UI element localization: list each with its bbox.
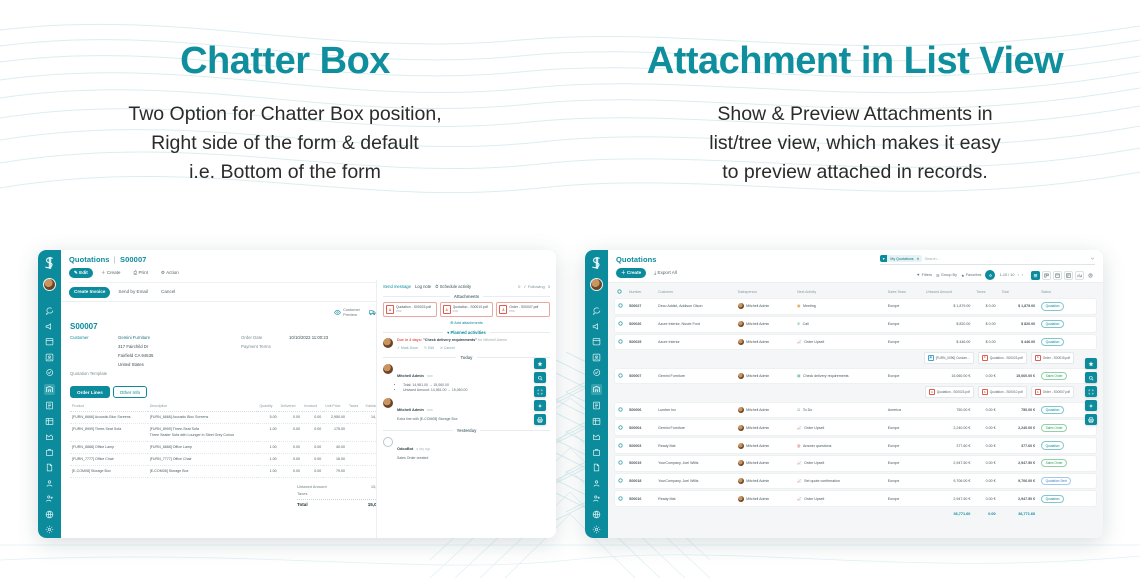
cell-quantity: 1.00 bbox=[257, 453, 278, 465]
subtitle-line: to preview attached in records. bbox=[570, 158, 1140, 187]
calendar-icon bbox=[1055, 273, 1060, 278]
message-time: now bbox=[427, 374, 433, 378]
table-row[interactable]: S00016 Ready Mat Mitchell Admin 📈Order U… bbox=[614, 490, 1097, 507]
cell-taxes bbox=[347, 441, 363, 453]
cell-taxes bbox=[347, 424, 363, 441]
table-row[interactable]: S00007 Gemini Furniture Mitchell Admin ▤… bbox=[614, 368, 1097, 385]
settings-round-button[interactable] bbox=[985, 270, 995, 280]
row-checkbox[interactable] bbox=[614, 298, 626, 315]
settings-gear-icon[interactable] bbox=[592, 525, 601, 534]
cancel-activity-link[interactable]: ✕ Cancel bbox=[440, 346, 455, 350]
cell-number: S00026 bbox=[626, 316, 655, 333]
following-label[interactable]: ✓ Following bbox=[523, 284, 544, 289]
cell-untaxed: $ 446.00 bbox=[923, 334, 973, 351]
table-row[interactable]: [FURN_8999] Three-Seat Sofa [FURN_8999] … bbox=[70, 424, 392, 441]
table-row[interactable]: [E-COM08] Storage Box [E-COM08] Storage … bbox=[70, 466, 392, 478]
order-lines-table: Product Description Quantity Delivered I… bbox=[70, 402, 392, 478]
col-number[interactable]: Number bbox=[626, 286, 655, 297]
form-fields-right: Order Date 10/10/2022 11:00:23 Payment T… bbox=[241, 335, 392, 380]
cell-taxes: 0.00 € bbox=[973, 455, 998, 472]
table-row[interactable]: S00019 YourCompany, Joel Willis Mitchell… bbox=[614, 455, 1097, 472]
col-customer[interactable]: Customer bbox=[655, 286, 735, 297]
calendar-icon: ▤ bbox=[797, 374, 800, 378]
pivot-view-button[interactable] bbox=[1064, 271, 1073, 280]
col-taxes[interactable]: Taxes bbox=[347, 402, 363, 412]
field-value: Fairfield CA 94535 bbox=[118, 353, 153, 359]
checkbox-icon bbox=[618, 407, 623, 412]
checkbox-icon bbox=[618, 321, 623, 326]
kanban-view-button[interactable] bbox=[1042, 271, 1051, 280]
documents-icon[interactable] bbox=[45, 463, 54, 472]
recruitment-icon[interactable] bbox=[592, 494, 601, 503]
status-badge: Quotation bbox=[1041, 441, 1064, 449]
subtitle-line: Right side of the form & default bbox=[0, 129, 570, 158]
pdf-icon: A bbox=[1035, 355, 1041, 362]
cell-untaxed: 2,947.50 € bbox=[923, 490, 973, 507]
brand-logo-icon[interactable] bbox=[42, 255, 58, 271]
headline-section: Chatter Box Two Option for Chatter Box p… bbox=[0, 0, 1140, 215]
cell-unit-price: 79.00 bbox=[323, 466, 347, 478]
floating-action-buttons-left bbox=[534, 358, 546, 425]
action-button[interactable]: ⚙ Action bbox=[156, 268, 184, 279]
discuss-icon[interactable] bbox=[45, 306, 54, 315]
recruitment-icon[interactable] bbox=[45, 494, 54, 503]
status-badge: Sales Order bbox=[1041, 459, 1067, 467]
row-checkbox[interactable] bbox=[614, 490, 626, 507]
cell-taxes bbox=[347, 466, 363, 478]
search-icon-button[interactable] bbox=[1085, 372, 1097, 383]
pager-previous[interactable]: ‹ bbox=[1017, 273, 1018, 277]
attachment-chip-list: ▣[FURN_0096] Custom... AQuotation - S000… bbox=[617, 352, 1094, 363]
invoicing-icon[interactable] bbox=[45, 401, 54, 410]
cell-product: [FURN_8888] Office Lamp bbox=[70, 441, 148, 453]
col-sales-team[interactable]: Sales Team bbox=[885, 286, 923, 297]
panel-title-attachment: Attachment in List View bbox=[570, 42, 1140, 80]
status-badge: Quotation bbox=[1041, 320, 1064, 328]
field-label: Order Date bbox=[241, 335, 289, 341]
cell-salesperson: Mitchell Admin bbox=[735, 419, 794, 436]
cell-salesperson: Mitchell Admin bbox=[735, 316, 794, 333]
expand-icon-button[interactable] bbox=[534, 386, 546, 397]
activity-summary: "Check delivery requirements" bbox=[423, 338, 477, 342]
record-title: S00007 bbox=[70, 322, 392, 331]
activity-item: Due in 4 days: "Check delivery requireme… bbox=[383, 338, 550, 350]
cell-description: [FURN_8999] Three-Seat Sofa Three Seater… bbox=[148, 424, 258, 441]
cell-quantity: 1.00 bbox=[257, 466, 278, 478]
total-label: Total bbox=[297, 502, 308, 507]
cell-customer: YourCompany, Joel Willis bbox=[655, 473, 735, 490]
cell-next-activity: ✆Call bbox=[794, 316, 885, 333]
create-invoice-button[interactable]: Create Invoice bbox=[69, 287, 110, 298]
col-next-activity[interactable]: Next Activity bbox=[794, 286, 885, 297]
pdf-icon: A bbox=[499, 305, 507, 314]
pdf-icon: A bbox=[386, 305, 394, 314]
add-attachments-button[interactable]: ⊕ Add attachments bbox=[383, 320, 550, 325]
col-salesperson[interactable]: Salesperson bbox=[735, 286, 794, 297]
favorites-dropdown[interactable]: ★ Favorites bbox=[961, 273, 982, 278]
cell-salesperson: Mitchell Admin bbox=[735, 368, 794, 385]
calendar-view-button[interactable] bbox=[1053, 271, 1062, 280]
upsell-icon: 📈 bbox=[797, 497, 801, 501]
cell-delivered: 0.00 bbox=[279, 412, 302, 424]
table-row[interactable]: S00018 YourCompany, Joel Willis Mitchell… bbox=[614, 473, 1097, 490]
message-body: Total: 14,981.00 → 15,060.00 Untaxed Amo… bbox=[397, 383, 467, 394]
eye-icon bbox=[334, 309, 341, 316]
website-icon[interactable] bbox=[45, 510, 54, 519]
field-address-country: United States bbox=[70, 362, 221, 368]
employees-icon[interactable] bbox=[45, 479, 54, 488]
cell-next-activity: 📈Order Upsell bbox=[794, 419, 885, 436]
search-icon-button[interactable] bbox=[534, 372, 546, 383]
calendar-icon[interactable] bbox=[45, 337, 54, 346]
employees-icon[interactable] bbox=[592, 479, 601, 488]
crm-icon[interactable] bbox=[45, 368, 54, 377]
day-divider-yesterday: Yesterday bbox=[383, 428, 550, 433]
cell-sales-team: Europe bbox=[885, 437, 923, 454]
breadcrumb[interactable]: Quotations | S00007 bbox=[69, 255, 548, 264]
cell-total: $ 1,879.00 bbox=[999, 298, 1038, 315]
inventory-icon[interactable] bbox=[592, 417, 601, 426]
col-quantity[interactable]: Quantity bbox=[257, 402, 278, 412]
upsell-icon: 📈 bbox=[797, 479, 801, 483]
chevron-down-icon[interactable] bbox=[1090, 256, 1095, 261]
schedule-activity-button[interactable]: ⏱ Schedule activity bbox=[435, 284, 471, 289]
pager-next[interactable]: › bbox=[1022, 273, 1023, 277]
app-sidebar[interactable] bbox=[585, 250, 608, 538]
field-payment-terms[interactable]: Payment Terms bbox=[241, 344, 392, 350]
upsell-icon: 📈 bbox=[797, 340, 801, 344]
expand-icon-button[interactable] bbox=[1085, 386, 1097, 397]
attachment-name: Order - S00007.pdf bbox=[1043, 390, 1070, 394]
attachment-card[interactable]: A Quotation - S00010.pdf PDF bbox=[440, 302, 494, 317]
cell-sales-team: Europe bbox=[885, 419, 923, 436]
message-time: a day ago bbox=[416, 447, 430, 451]
attachment-name: [FURN_0096] Custom... bbox=[936, 356, 970, 360]
row-checkbox[interactable] bbox=[614, 316, 626, 333]
attachment-chip[interactable]: AQuotation - S00023.pdf bbox=[925, 386, 974, 397]
contacts-icon[interactable] bbox=[45, 353, 54, 362]
field-quotation-template[interactable]: Quotation Template bbox=[70, 371, 221, 377]
user-avatar[interactable] bbox=[43, 278, 56, 291]
gear-icon bbox=[988, 273, 993, 278]
breadcrumb-app[interactable]: Quotations bbox=[616, 255, 657, 264]
cell-total: 750.00 € bbox=[999, 402, 1038, 419]
cell-customer: Azure Interior bbox=[655, 334, 735, 351]
attachment-chip[interactable]: AOrder - S00015.pdf bbox=[1031, 352, 1074, 363]
question-icon: ▥ bbox=[797, 444, 800, 448]
invoicing-icon[interactable] bbox=[592, 401, 601, 410]
edit-activity-link[interactable]: ✎ Edit bbox=[424, 346, 434, 350]
cell-total: 2,947.50 € bbox=[999, 455, 1038, 472]
star-icon-button[interactable] bbox=[1085, 358, 1097, 369]
status-badge: Quotation Sent bbox=[1041, 477, 1071, 485]
cell-invoiced: 0.00 bbox=[302, 453, 323, 465]
table-row[interactable]: S00025 Azure Interior Mitchell Admin 📈Or… bbox=[614, 334, 1097, 351]
table-row[interactable]: S00026 Azure Interior, Nicole Ford Mitch… bbox=[614, 316, 1097, 333]
tab-order-lines[interactable]: Order Lines bbox=[70, 386, 110, 398]
crm-icon[interactable] bbox=[592, 368, 601, 377]
inventory-icon[interactable] bbox=[45, 417, 54, 426]
graph-view-button[interactable] bbox=[1075, 271, 1084, 280]
cell-unit-price: 2,950.00 bbox=[323, 412, 347, 424]
attachment-chip[interactable]: AQuotation - S00023.pdf bbox=[978, 352, 1027, 363]
table-row[interactable]: S00004 Gemini Furniture Mitchell Admin 📈… bbox=[614, 419, 1097, 436]
print-icon-button[interactable] bbox=[1085, 414, 1097, 425]
cell-description: [E-COM08] Storage Box bbox=[148, 466, 258, 478]
calendar-icon[interactable] bbox=[592, 337, 601, 346]
col-product[interactable]: Product bbox=[70, 402, 148, 412]
chatter-message: Mitchell Adminnow Extra line with [E-COM… bbox=[383, 398, 550, 423]
message-author: Mitchell Admin bbox=[397, 408, 424, 412]
status-badge: Quotation bbox=[1041, 338, 1064, 346]
cell-untaxed: 377.60 € bbox=[923, 437, 973, 454]
followers-badge[interactable]: 3 bbox=[548, 284, 550, 289]
discuss-icon[interactable] bbox=[592, 306, 601, 315]
print-button[interactable]: ⎙ Print bbox=[129, 268, 153, 279]
day-label: Yesterday bbox=[457, 428, 477, 433]
follower-count: 0 bbox=[518, 284, 520, 289]
col-total[interactable]: Total bbox=[999, 286, 1038, 297]
mark-done-link[interactable]: ✓ Mark Done bbox=[397, 346, 418, 350]
cell-next-activity: 📈Order Upsell bbox=[794, 455, 885, 472]
cell-taxes: 0.00 € bbox=[973, 419, 998, 436]
checkbox-icon bbox=[617, 289, 622, 294]
group-by-dropdown[interactable]: ☰ Group By bbox=[936, 273, 957, 278]
cancel-button[interactable]: Cancel bbox=[156, 287, 180, 298]
col-unit-price[interactable]: Unit Price bbox=[323, 402, 347, 412]
field-order-date[interactable]: Order Date 10/10/2022 11:00:23 bbox=[241, 335, 392, 341]
total-label: Untaxed Amount bbox=[297, 484, 327, 489]
row-checkbox[interactable] bbox=[614, 419, 626, 436]
megaphone-icon[interactable] bbox=[592, 322, 601, 331]
print-icon-button[interactable] bbox=[534, 414, 546, 425]
pager[interactable]: 1-10 / 10 ‹ › bbox=[999, 273, 1023, 277]
table-row[interactable]: [FURN_6666] Acoustic Bloc Screens [FURN_… bbox=[70, 412, 392, 424]
col-untaxed-amount[interactable]: Untaxed Amount bbox=[923, 286, 973, 297]
cell-taxes: 0.00 € bbox=[973, 490, 998, 507]
cell-status: Quotation bbox=[1038, 316, 1097, 333]
contacts-icon[interactable] bbox=[592, 353, 601, 362]
field-value: United States bbox=[118, 362, 144, 368]
tracking-value: Untaxed Amount: 14,981.00 → 15,060.00 bbox=[403, 388, 467, 394]
col-select[interactable] bbox=[614, 286, 626, 297]
app-sidebar[interactable] bbox=[38, 250, 61, 538]
star-icon-button[interactable] bbox=[534, 358, 546, 369]
panel-subtitle-chatter: Two Option for Chatter Box position, Rig… bbox=[0, 100, 570, 187]
total-label: Taxes bbox=[297, 491, 307, 496]
purchase-icon[interactable] bbox=[45, 448, 54, 457]
pivot-icon bbox=[1066, 273, 1071, 278]
cell-unit-price: 40.00 bbox=[323, 441, 347, 453]
todo-icon: ☑ bbox=[797, 408, 800, 412]
attachment-name: Quotation - S00023.pdf bbox=[937, 390, 970, 394]
table-row[interactable]: [FURN_8888] Office Lamp [FURN_8888] Offi… bbox=[70, 441, 392, 453]
cell-customer: YourCompany, Joel Willis bbox=[655, 455, 735, 472]
subtitle-line: Two Option for Chatter Box position, bbox=[0, 100, 570, 129]
export-all-button[interactable]: ⤓ Export All bbox=[649, 268, 682, 279]
meeting-icon: ▦ bbox=[797, 304, 800, 308]
col-delivered[interactable]: Delivered bbox=[279, 402, 302, 412]
sales-icon[interactable] bbox=[44, 384, 55, 395]
status-badge: Quotation bbox=[1041, 406, 1064, 414]
row-checkbox[interactable] bbox=[614, 437, 626, 454]
attachment-chip[interactable]: ▣[FURN_0096] Custom... bbox=[924, 352, 974, 363]
manufacturing-icon[interactable] bbox=[592, 432, 601, 441]
settings-icon-button[interactable] bbox=[534, 400, 546, 411]
log-note-button[interactable]: Log note bbox=[415, 284, 431, 289]
sidebar-app-icons[interactable] bbox=[591, 306, 602, 534]
checkbox-icon bbox=[618, 339, 623, 344]
followers-widget[interactable]: 0 ✓ Following 3 bbox=[518, 284, 550, 289]
cell-next-activity: 📈Order Upsell bbox=[794, 334, 885, 351]
send-by-email-button[interactable]: Send by Email bbox=[113, 287, 153, 298]
message-body: Sales Order created bbox=[397, 456, 430, 462]
cell-total: $ 446.00 bbox=[999, 334, 1038, 351]
message-author: Mitchell Admin bbox=[397, 374, 424, 378]
search-input[interactable]: Search... bbox=[925, 257, 1087, 261]
cell-number: S00018 bbox=[626, 473, 655, 490]
user-avatar[interactable] bbox=[590, 278, 603, 291]
footer-total: 36,771.60 bbox=[999, 508, 1038, 519]
cell-sales-team: Europe bbox=[885, 455, 923, 472]
attachment-card[interactable]: A Order - S00007.pdf PDF bbox=[496, 302, 550, 317]
sales-icon[interactable] bbox=[591, 384, 602, 395]
search-toolbar: ▼ Filters ☰ Group By ★ Favorites 1-10 / … bbox=[880, 270, 1095, 280]
graph-icon bbox=[1077, 273, 1082, 278]
sidebar-app-icons[interactable] bbox=[44, 306, 55, 534]
table-body: S00027 Deco Addict, Addison Olson Mitche… bbox=[614, 298, 1097, 519]
cell-delivered: 0.00 bbox=[279, 441, 302, 453]
row-checkbox[interactable] bbox=[614, 368, 626, 385]
facet-label: My Quotations bbox=[887, 255, 916, 262]
field-label: Payment Terms bbox=[241, 344, 289, 350]
cell-taxes: 0.00 € bbox=[973, 473, 998, 490]
list-view-button[interactable] bbox=[1031, 271, 1040, 280]
avatar bbox=[738, 478, 744, 484]
purchase-icon[interactable] bbox=[592, 448, 601, 457]
avatar bbox=[738, 373, 744, 379]
cell-customer: Lumber Inc bbox=[655, 402, 735, 419]
cell-next-activity: 📈Set quote confirmation bbox=[794, 473, 885, 490]
list-records-area: Number Customer Salesperson Next Activit… bbox=[608, 283, 1103, 538]
avatar bbox=[383, 364, 393, 374]
documents-icon[interactable] bbox=[592, 463, 601, 472]
table-row[interactable]: [FURN_7777] Office Chair [FURN_7777] Off… bbox=[70, 453, 392, 465]
table-row[interactable]: S00027 Deco Addict, Addison Olson Mitche… bbox=[614, 298, 1097, 315]
cell-untaxed: 2,947.50 € bbox=[923, 455, 973, 472]
chatter-panel: Send message Log note ⏱ Schedule activit… bbox=[376, 280, 556, 538]
filters-dropdown[interactable]: ▼ Filters bbox=[916, 273, 932, 277]
form-view-body: Quotations | S00007 ✎ Edit ＋ Create ⎙ Pr… bbox=[61, 250, 556, 538]
tab-other-info[interactable]: Other Info bbox=[113, 386, 147, 398]
row-checkbox[interactable] bbox=[614, 334, 626, 351]
footer-untaxed: 36,771.60 bbox=[923, 508, 973, 519]
manufacturing-icon[interactable] bbox=[45, 432, 54, 441]
attachment-chip[interactable]: AOrder - S00007.pdf bbox=[1031, 386, 1074, 397]
cell-total: 2,947.50 € bbox=[999, 490, 1038, 507]
upsell-icon: 📈 bbox=[797, 461, 801, 465]
website-icon[interactable] bbox=[592, 510, 601, 519]
brand-logo-icon[interactable] bbox=[589, 255, 605, 271]
avatar bbox=[383, 398, 393, 408]
table-row[interactable]: S00006 Lumber Inc Mitchell Admin ☑To Do … bbox=[614, 402, 1097, 419]
cell-number: S00025 bbox=[626, 334, 655, 351]
attachment-chip-list: AQuotation - S00023.pdf AQuotation - S00… bbox=[617, 386, 1094, 397]
planned-activities-heading: ▾ Planned activities bbox=[447, 330, 486, 335]
cell-salesperson: Mitchell Admin bbox=[735, 490, 794, 507]
send-message-button[interactable]: Send message bbox=[383, 284, 411, 289]
cell-untaxed: $ 1,879.00 bbox=[923, 298, 973, 315]
attachment-name: Order - S00015.pdf bbox=[1043, 356, 1070, 360]
cell-invoiced: 0.00 bbox=[302, 412, 323, 424]
row-checkbox[interactable] bbox=[614, 455, 626, 472]
cell-salesperson: Mitchell Admin bbox=[735, 298, 794, 315]
cell-unit-price: 175.00 bbox=[323, 424, 347, 441]
table-row[interactable]: S00003 Ready Mat Mitchell Admin ▥Answer … bbox=[614, 437, 1097, 454]
field-customer[interactable]: Customer Gemini Furniture bbox=[70, 335, 221, 341]
avatar bbox=[738, 339, 744, 345]
col-status[interactable]: Status bbox=[1038, 286, 1097, 297]
close-icon[interactable]: ✕ bbox=[917, 255, 922, 262]
settings-gear-icon[interactable] bbox=[45, 525, 54, 534]
list-control-panel: Quotations ＋ Create ⤓ Export All ▼ My Qu… bbox=[608, 250, 1103, 283]
activity-view-button[interactable] bbox=[1086, 271, 1095, 280]
panel-chatter-box: Chatter Box Two Option for Chatter Box p… bbox=[0, 0, 570, 215]
cell-invoiced: 0.00 bbox=[302, 424, 323, 441]
attachment-name: Quotation - S00023.pdf bbox=[990, 356, 1023, 360]
form-sheet: CustomerPreview 1Delivery S00007 Custome… bbox=[61, 302, 401, 514]
row-checkbox[interactable] bbox=[614, 473, 626, 490]
cell-customer: Deco Addict, Addison Olson bbox=[655, 298, 735, 315]
attachment-row: AQuotation - S00023.pdf AQuotation - S00… bbox=[614, 385, 1097, 400]
pdf-icon: A bbox=[982, 389, 988, 396]
breadcrumb-app[interactable]: Quotations bbox=[69, 255, 110, 264]
message-time: now bbox=[427, 408, 433, 412]
cell-total: 377.60 € bbox=[999, 437, 1038, 454]
row-checkbox[interactable] bbox=[614, 402, 626, 419]
attachments-heading: Attachments bbox=[454, 294, 479, 299]
footer-taxes: 0.00 bbox=[973, 508, 998, 519]
search-facet-my-quotations[interactable]: ▼ My Quotations ✕ bbox=[880, 255, 922, 262]
attachment-card[interactable]: A Quotation - S00023.pdf PDF bbox=[383, 302, 437, 317]
avatar bbox=[738, 425, 744, 431]
col-description[interactable]: Description bbox=[148, 402, 258, 412]
col-invoiced[interactable]: Invoiced bbox=[302, 402, 323, 412]
col-taxes[interactable]: Taxes bbox=[973, 286, 998, 297]
chatter-action-row: Send message Log note ⏱ Schedule activit… bbox=[383, 284, 550, 289]
status-badge: Quotation bbox=[1041, 302, 1064, 310]
table-header-row: Product Description Quantity Delivered I… bbox=[70, 402, 392, 412]
cell-next-activity: 📈Order Upsell bbox=[794, 490, 885, 507]
avatar bbox=[738, 443, 744, 449]
image-icon: ▣ bbox=[928, 355, 934, 362]
attachment-chip[interactable]: AQuotation - S00010.pdf bbox=[978, 386, 1027, 397]
customer-preview-button[interactable]: CustomerPreview bbox=[334, 308, 360, 318]
megaphone-icon[interactable] bbox=[45, 322, 54, 331]
edit-button[interactable]: ✎ Edit bbox=[69, 268, 93, 279]
cell-untaxed: 9,706.00 € bbox=[923, 473, 973, 490]
create-button[interactable]: ＋ Create bbox=[96, 268, 126, 279]
cell-salesperson: Mitchell Admin bbox=[735, 402, 794, 419]
cell-invoiced: 0.00 bbox=[302, 466, 323, 478]
cell-next-activity: ☑To Do bbox=[794, 402, 885, 419]
settings-icon-button[interactable] bbox=[1085, 400, 1097, 411]
avatar bbox=[738, 407, 744, 413]
checkbox-icon bbox=[618, 496, 623, 501]
create-button[interactable]: ＋ Create bbox=[616, 268, 646, 279]
attachment-name: Quotation - S00010.pdf bbox=[990, 390, 1023, 394]
search-box[interactable]: ▼ My Quotations ✕ Search... bbox=[880, 255, 1095, 265]
